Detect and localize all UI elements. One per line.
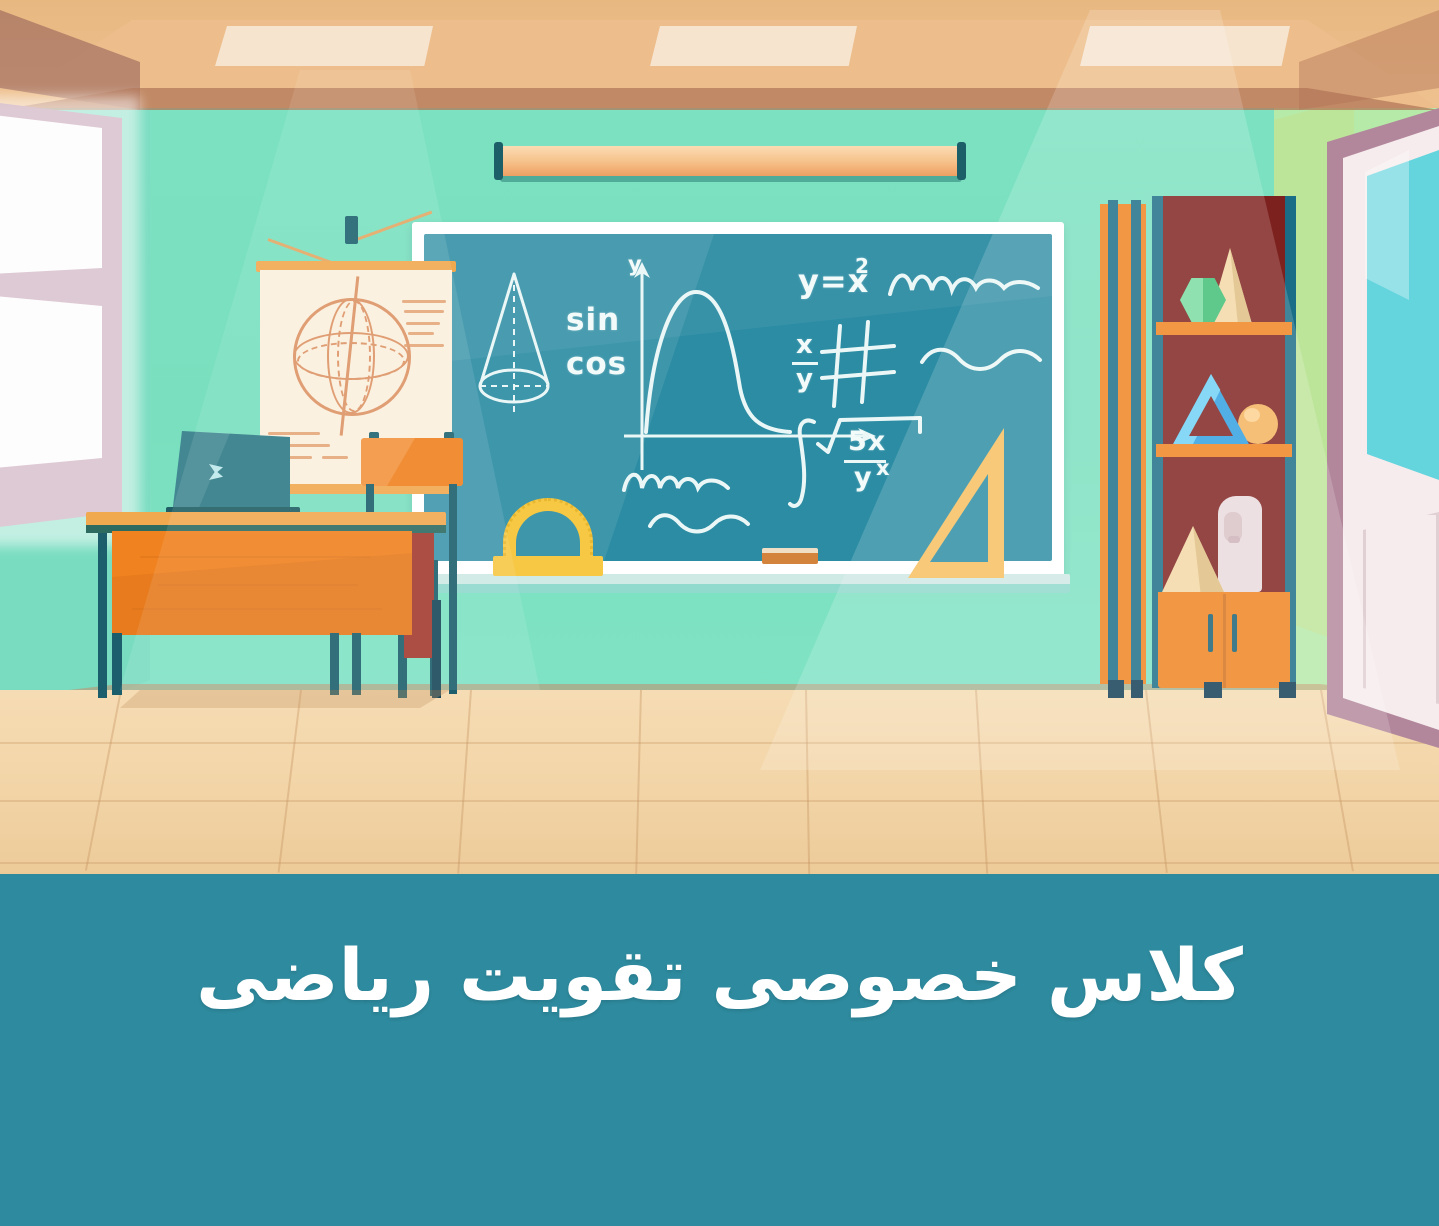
- poster-text-line: [408, 332, 434, 335]
- ceiling-light-2-icon: [650, 26, 857, 66]
- classroom-scene: sin cos y x y=x 2: [0, 0, 1439, 874]
- cabinet-handle-right-icon[interactable]: [1232, 614, 1237, 652]
- door-lower-panel: [1363, 512, 1439, 710]
- roller-screen-cap-left: [494, 142, 503, 180]
- shelf-side-rail-2: [1131, 200, 1141, 686]
- desk-grain-line: [132, 608, 382, 610]
- shelf-foot-1: [1108, 680, 1124, 698]
- chalk-radical-numerator: 5x: [848, 426, 886, 457]
- poster-text-line: [402, 300, 446, 303]
- blackboard-chalk-ledge-shadow: [406, 584, 1070, 593]
- desk-grain-line: [158, 584, 358, 586]
- ceiling-trim: [0, 88, 1439, 110]
- chalk-sin-label: sin: [566, 302, 620, 338]
- chalk-squiggle-2-icon: [918, 342, 1046, 376]
- floor: [0, 690, 1439, 874]
- chalk-radical-denominator: y: [854, 462, 873, 493]
- shelf-cabinet-divider: [1223, 594, 1226, 688]
- chalk-cos-label: cos: [566, 346, 627, 382]
- shelf-plank-middle: [1156, 444, 1292, 457]
- desk-floor-shadow: [120, 690, 450, 708]
- poster-text-line: [404, 310, 444, 313]
- desk-leg-front-right: [432, 600, 441, 698]
- sphere-meridian-hidden: [337, 300, 371, 412]
- cone-sketch-icon: [460, 266, 580, 446]
- poster-text-line: [406, 322, 440, 325]
- ceiling-light-1-icon: [215, 26, 433, 66]
- chalk-squiggle-4-icon: [646, 508, 756, 538]
- ceiling-light-3-icon: [1080, 26, 1290, 66]
- chalk-eraser-icon: [762, 548, 818, 564]
- window-pane-top: [0, 110, 102, 276]
- poster-text-line: [268, 432, 320, 435]
- chalk-fraction-numerator: x: [796, 330, 814, 360]
- bust-nose: [1228, 536, 1240, 543]
- desk-leg-mid-1: [330, 633, 339, 695]
- chalk-squiggle-3-icon: [620, 466, 750, 506]
- desk-grain-line: [140, 556, 370, 558]
- classroom-poster-image: sin cos y x y=x 2: [0, 0, 1439, 1226]
- chalk-squiggle-1-icon: [886, 264, 1046, 310]
- shelf-plank-top: [1156, 322, 1292, 335]
- window-pane-bottom: [0, 292, 102, 472]
- chalk-equation-exponent: 2: [855, 254, 870, 278]
- door-glass-highlight: [1365, 150, 1409, 300]
- caption-bar: کلاس خصوصی تقویت ریاضی: [0, 874, 1439, 1226]
- roller-screen-icon[interactable]: [500, 146, 960, 176]
- shelf-foot-2: [1131, 680, 1143, 698]
- poster-text-line: [322, 456, 348, 459]
- poster-text-line: [404, 344, 444, 347]
- shelf-foot-4: [1279, 682, 1296, 698]
- protractor-icon: [493, 498, 603, 576]
- desk-leg-mid-2: [352, 633, 361, 695]
- chalk-fraction-denominator: y: [796, 364, 814, 394]
- roller-screen-shadow: [500, 176, 962, 182]
- chalk-hash-icon: [820, 320, 910, 412]
- cabinet-handle-left-icon[interactable]: [1208, 614, 1213, 652]
- set-square-icon: [908, 428, 1004, 578]
- poster-hook-icon: [345, 216, 358, 244]
- shelf-foot-3: [1204, 682, 1222, 698]
- shelf-side-rail-1: [1108, 200, 1118, 686]
- caption-title: کلاس خصوصی تقویت ریاضی: [196, 930, 1243, 1020]
- geometry-shelf[interactable]: [1100, 196, 1296, 694]
- desk-leg-front-left: [112, 633, 122, 695]
- roller-screen-cap-right: [957, 142, 966, 180]
- chalk-y-axis-label: y: [628, 252, 643, 276]
- chair-leg-right: [449, 484, 457, 694]
- bust-sculpture-icon: [1218, 496, 1262, 592]
- desk-leg-back-left: [98, 528, 107, 698]
- triangle-model-icon: [1172, 374, 1250, 446]
